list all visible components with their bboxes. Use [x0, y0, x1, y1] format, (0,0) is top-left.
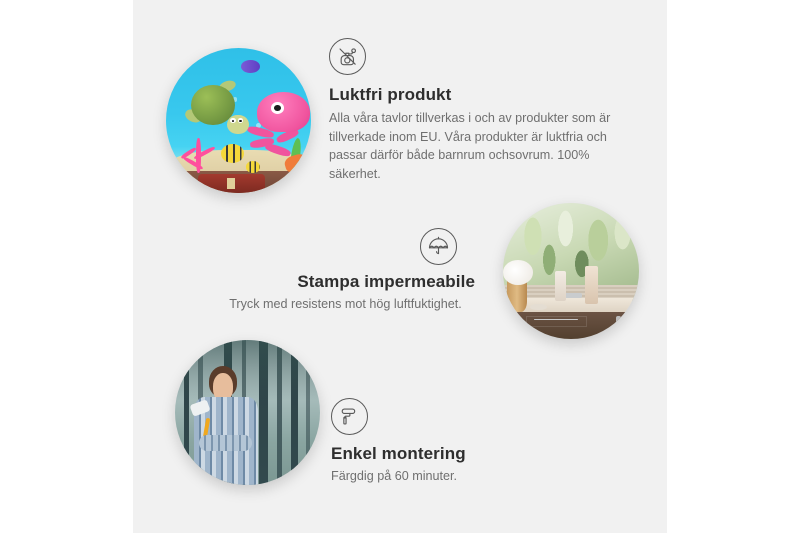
photo-underwater-wallpaper — [166, 48, 311, 193]
umbrella-icon — [420, 228, 457, 265]
feature-easy-mounting: Enkel montering Färgdig på 60 minuter. — [331, 398, 571, 486]
faucet-shape — [563, 293, 582, 298]
promo-banner: Luktfri produkt Alla våra tavlor tillver… — [0, 0, 800, 533]
turtle-shape — [183, 80, 250, 138]
small-yellow-fish-shape — [246, 161, 261, 173]
bottle-shape — [555, 271, 566, 301]
feature-waterproof-print: Stampa impermeabile Tryck med resistens … — [213, 228, 478, 314]
no-fragrance-icon — [329, 38, 366, 75]
octopus-shape — [246, 92, 310, 162]
feature-odour-free: Luktfri produkt Alla våra tavlor tillver… — [329, 38, 621, 183]
feature-body: Färgdig på 60 minuter. — [331, 467, 571, 486]
photo-forest-wallpaper — [175, 340, 320, 485]
treasure-chest-shape — [198, 174, 265, 193]
bottle-shape — [585, 266, 599, 304]
feature-title: Enkel montering — [331, 443, 571, 465]
feature-title: Stampa impermeabile — [213, 271, 478, 293]
yellow-fish-shape — [221, 144, 244, 163]
feature-body: Tryck med resistens mot hög luftfuktighe… — [213, 295, 478, 314]
woman-figure — [192, 366, 262, 485]
soap-dish-shape — [530, 304, 546, 311]
feature-title: Luktfri produkt — [329, 84, 621, 106]
paint-roller-icon — [331, 398, 368, 435]
flower-shape — [503, 260, 533, 284]
blue-fish-shape — [241, 60, 260, 73]
photo-bathroom-wallpaper — [503, 203, 639, 339]
feature-body: Alla våra tavlor tillverkas i och av pro… — [329, 109, 621, 183]
